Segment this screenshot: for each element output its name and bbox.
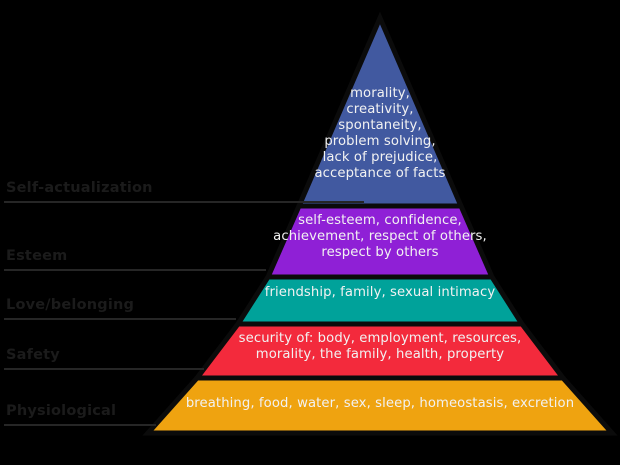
tier-label-love-belonging: Love/belonging bbox=[6, 297, 134, 313]
pyramid-tier-esteem[interactable] bbox=[268, 206, 492, 277]
leader-line-safety bbox=[4, 368, 204, 370]
tier-label-safety: Safety bbox=[6, 347, 60, 363]
pyramid-tier-self-actualization[interactable] bbox=[299, 18, 461, 206]
leader-line-esteem bbox=[4, 269, 266, 271]
tier-label-esteem: Esteem bbox=[6, 248, 67, 264]
pyramid-tier-love-belonging[interactable] bbox=[238, 277, 522, 324]
pyramid-shape-group bbox=[0, 0, 620, 465]
leader-line-love-belonging bbox=[4, 318, 236, 320]
pyramid-tier-physiological[interactable] bbox=[148, 378, 612, 433]
tier-label-self-actualization: Self-actualization bbox=[6, 180, 153, 196]
pyramid-tier-safety[interactable] bbox=[197, 324, 563, 378]
maslow-pyramid-diagram: morality, creativity, spontaneity, probl… bbox=[0, 0, 620, 465]
leader-line-self-actualization bbox=[4, 201, 364, 203]
tier-label-physiological: Physiological bbox=[6, 403, 116, 419]
leader-line-physiological bbox=[4, 424, 156, 426]
